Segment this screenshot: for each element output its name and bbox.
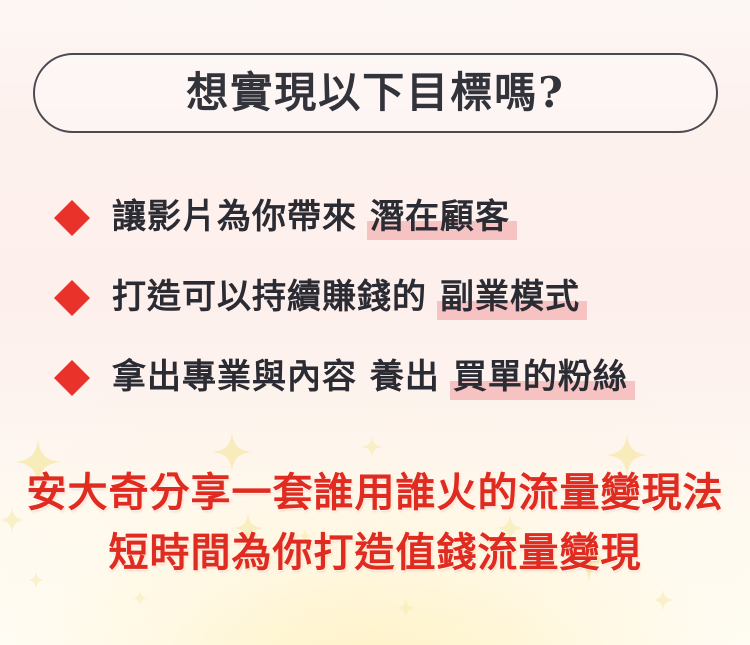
title-pill: 想實現以下目標嗎? [33, 53, 718, 133]
list-item-plain-text: 打造可以持續賺錢的 [112, 280, 427, 316]
four-point-sparkle-icon [396, 598, 416, 618]
four-point-sparkle-icon [652, 589, 674, 611]
list-item: 打造可以持續賺錢的 副業模式 [52, 262, 712, 334]
callout-block: 安大奇分享一套誰用誰火的流量變現法 短時間為你打造值錢流量變現 [0, 470, 750, 576]
goals-list: 讓影片為你帶來 潛在顧客 打造可以持續賺錢的 副業模式 拿出專業與內容 養出 買… [52, 182, 712, 422]
poster-canvas: 想實現以下目標嗎? 讓影片為你帶來 潛在顧客 打造可以持續賺錢的 副業模式 [0, 0, 750, 645]
list-item: 讓影片為你帶來 潛在顧客 [52, 182, 712, 254]
callout-line-2: 短時間為你打造值錢流量變現 [0, 530, 750, 576]
four-point-sparkle-icon [212, 432, 252, 472]
red-diamond-icon [52, 278, 92, 318]
red-diamond-icon [52, 198, 92, 238]
list-item-plain-text: 讓影片為你帶來 [112, 200, 357, 236]
list-item-text: 打造可以持續賺錢的 副業模式 [112, 280, 583, 316]
list-item-highlight-text: 買單的粉絲 [450, 360, 631, 396]
callout-line-1: 安大奇分享一套誰用誰火的流量變現法 [0, 470, 750, 516]
list-item-text: 讓影片為你帶來 潛在顧客 [112, 200, 513, 236]
list-item-plain-text: 拿出專業與內容 養出 [112, 360, 440, 396]
list-item-text: 拿出專業與內容 養出 買單的粉絲 [112, 360, 631, 396]
page-title: 想實現以下目標嗎? [186, 72, 565, 114]
list-item-highlight-text: 潛在顧客 [367, 200, 513, 236]
four-point-sparkle-icon [361, 436, 383, 458]
red-diamond-icon [52, 358, 92, 398]
list-item: 拿出專業與內容 養出 買單的粉絲 [52, 342, 712, 414]
four-point-sparkle-icon [132, 590, 148, 606]
list-item-highlight-text: 副業模式 [437, 280, 583, 316]
